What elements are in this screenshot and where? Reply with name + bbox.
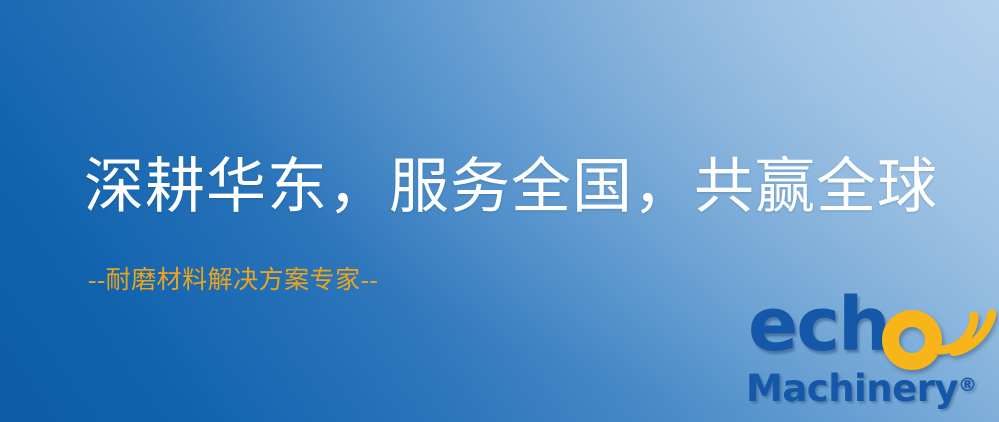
company-logo[interactable]: ech Machinery®: [744, 292, 996, 418]
logo-text-ech: ech: [748, 288, 889, 362]
logo-mark: ech: [744, 292, 996, 374]
signal-arcs-icon: [934, 294, 996, 356]
registered-trademark-icon: ®: [958, 374, 977, 396]
logo-wordmark: Machinery®: [746, 370, 977, 407]
hero-banner: 深耕华东，服务全国，共赢全球 --耐磨材料解决方案专家-- ech Machin…: [0, 0, 999, 422]
logo-letter-o: [882, 310, 942, 370]
banner-subtitle: --耐磨材料解决方案专家--: [88, 266, 378, 296]
logo-wordmark-text: Machinery: [746, 367, 958, 410]
logo-letter-o-group: [882, 298, 996, 374]
banner-headline: 深耕华东，服务全国，共赢全球: [84, 155, 938, 220]
